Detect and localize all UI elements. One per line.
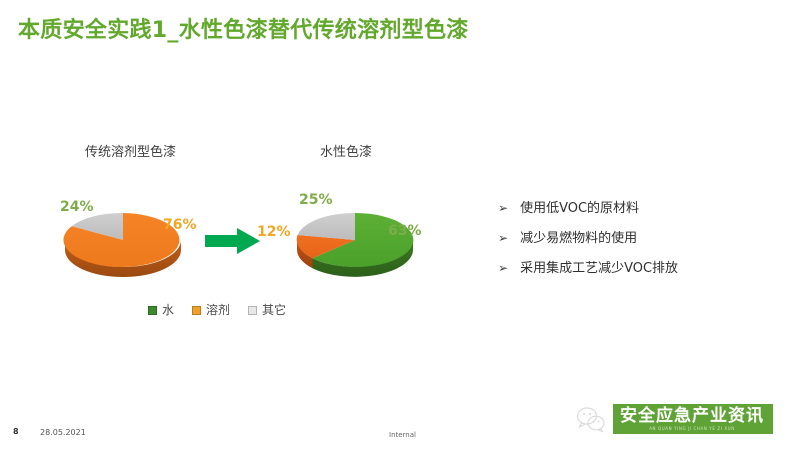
slide-canvas: 本质安全实践1_水性色漆替代传统溶剂型色漆 传统溶剂型色漆 [0, 0, 800, 450]
legend-swatch-other [248, 306, 257, 315]
transition-arrow-icon [205, 226, 261, 256]
bullet-item: ➢ 采用集成工艺减少VOC排放 [498, 260, 778, 277]
pie-label-solvent-waterborne: 12% [257, 224, 291, 240]
pie-label-solvent-traditional: 76% [163, 217, 197, 233]
pie-chart-waterborne [290, 200, 440, 290]
watermark-title: 安全应急产业资讯 [620, 407, 764, 425]
pie-chart-waterborne-graphic [290, 200, 420, 278]
bullet-list: ➢ 使用低VOC的原材料 ➢ 减少易燃物料的使用 ➢ 采用集成工艺减少VOC排放 [498, 200, 778, 290]
chart-heading-waterborne: 水性色漆 [320, 144, 372, 162]
legend-label-water: 水 [162, 303, 174, 317]
legend-label-solvent: 溶剂 [206, 303, 230, 317]
bullet-text: 采用集成工艺减少VOC排放 [520, 261, 678, 277]
page-title: 本质安全实践1_水性色漆替代传统溶剂型色漆 [18, 16, 469, 46]
bullet-item: ➢ 减少易燃物料的使用 [498, 230, 778, 247]
bullet-arrow-icon: ➢ [498, 260, 508, 276]
pie-label-other-waterborne: 25% [299, 192, 333, 208]
legend-item-water: 水 [148, 303, 174, 317]
legend-item-other: 其它 [248, 303, 286, 317]
footer-page-number: 8 [13, 427, 19, 437]
legend-label-other: 其它 [262, 303, 286, 317]
bullet-text: 使用低VOC的原材料 [520, 201, 639, 217]
wechat-icon [575, 405, 607, 433]
pie-legend: 水 溶剂 其它 [148, 303, 286, 317]
footer-date: 28.05.2021 [40, 428, 86, 438]
bullet-arrow-icon: ➢ [498, 230, 508, 246]
footer-classification-label: Internal [389, 431, 416, 440]
legend-item-solvent: 溶剂 [192, 303, 230, 317]
legend-swatch-solvent [192, 306, 201, 315]
legend-swatch-water [148, 306, 157, 315]
watermark-subtitle: AN QUAN YING JI CHAN YE ZI XUN [620, 426, 764, 431]
watermark-band: 安全应急产业资讯 AN QUAN YING JI CHAN YE ZI XUN [613, 404, 773, 434]
pie-label-water-waterborne: 63% [388, 223, 422, 239]
chart-heading-traditional: 传统溶剂型色漆 [85, 144, 176, 162]
bullet-arrow-icon: ➢ [498, 200, 508, 216]
bullet-item: ➢ 使用低VOC的原材料 [498, 200, 778, 217]
pie-label-other-traditional: 24% [60, 199, 94, 215]
watermark: 安全应急产业资讯 AN QUAN YING JI CHAN YE ZI XUN [575, 402, 773, 436]
bullet-text: 减少易燃物料的使用 [520, 231, 637, 247]
